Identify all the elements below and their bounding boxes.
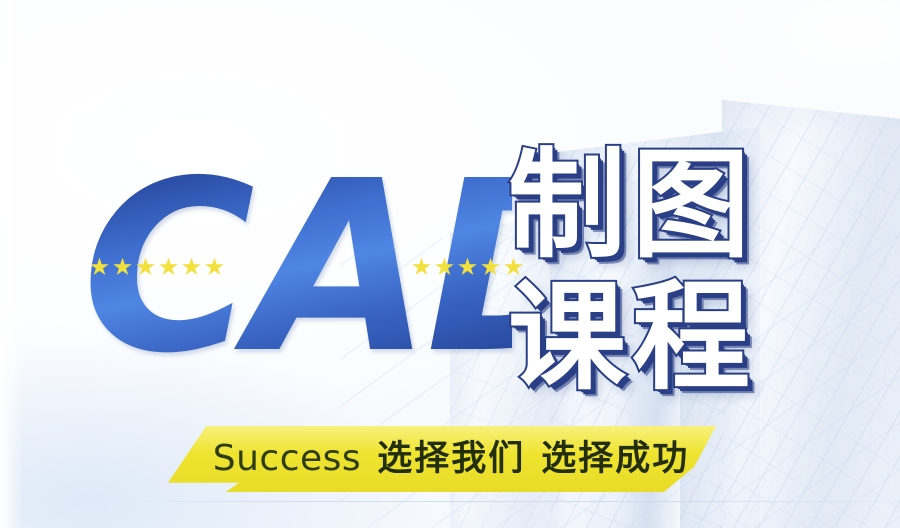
- cad-wordmark-group: CAD: [82, 152, 512, 384]
- chinese-headline-line-2: 课程: [508, 275, 808, 399]
- tagline-chinese-2: 选择成功: [541, 442, 689, 477]
- tagline-ribbon: Success 选择我们 选择成功: [168, 426, 716, 492]
- chinese-headline-line-1: 制图: [508, 143, 808, 267]
- tagline-chinese-1: 选择我们: [377, 442, 525, 477]
- chinese-headline-group: 制图 课程: [508, 143, 808, 399]
- cad-wordmark: CAD: [82, 152, 512, 384]
- headline-group: CAD: [0, 0, 900, 528]
- tagline-english: Success: [213, 441, 361, 477]
- ribbon-content: Success 选择我们 选择成功: [168, 426, 716, 492]
- promotional-poster: CAD: [0, 0, 900, 528]
